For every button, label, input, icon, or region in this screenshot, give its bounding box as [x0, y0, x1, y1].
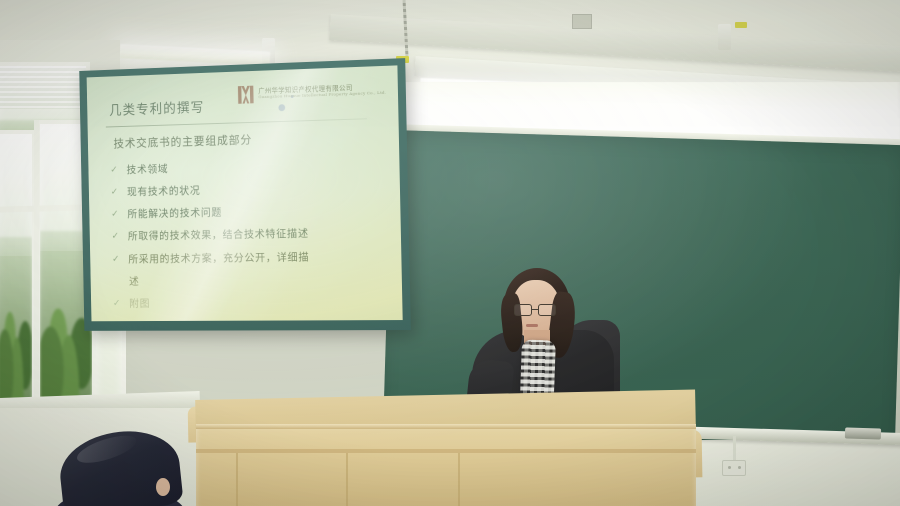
lamp-bracket-right [718, 24, 731, 50]
check-icon: ✓ [110, 165, 118, 177]
slide-bullet-continuation-text: 述 [129, 275, 140, 288]
presenter-mouth [526, 324, 538, 327]
ceiling-vent [572, 14, 592, 29]
window-glare [0, 134, 32, 256]
slide-title-divider [106, 118, 367, 127]
slide-bullet-item: ✓ 所取得的技术效果，结合技术特征描述 [112, 227, 388, 244]
check-icon: ✓ [112, 253, 120, 265]
slide-title: 几类专利的撰写 [109, 96, 205, 119]
slide-decoration-dot-large [278, 104, 285, 111]
slide-bullet-text: 技术领域 [126, 163, 168, 177]
check-icon: ✓ [111, 187, 119, 199]
logo-mark-icon [237, 85, 254, 105]
podium-panel-seam [346, 453, 348, 506]
student-foreground [60, 432, 190, 506]
lecture-podium [196, 400, 696, 506]
glasses-lens-left [514, 304, 532, 316]
check-icon: ✓ [111, 209, 119, 221]
student-ear [156, 478, 170, 496]
projection-screen-surface: 几类专利的撰写 广州华学知识产权代理有限公司 Guangzhou Huaxue … [87, 65, 403, 321]
podium-panel-seam [458, 453, 460, 506]
projection-screen-frame: 几类专利的撰写 广州华学知识产权代理有限公司 Guangzhou Huaxue … [79, 58, 411, 331]
glasses-lens-right [538, 304, 556, 316]
slide-bullet-item-last: ✓ 附图 [113, 296, 389, 311]
ceiling-tag-right [735, 22, 747, 28]
podium-rail [196, 449, 696, 453]
podium-panel-seam [236, 453, 238, 506]
classroom-photo-scene: 几类专利的撰写 广州华学知识产权代理有限公司 Guangzhou Huaxue … [0, 0, 900, 506]
slide-bullet-item: ✓ 现有技术的状况 [111, 181, 387, 200]
podium-front-panel [196, 424, 696, 506]
slide-bullet-item: ✓ 技术领域 [110, 158, 386, 178]
slide-subtitle: 技术交底书的主要组成部分 [113, 132, 252, 152]
slide-bullet-list: ✓ 技术领域 ✓ 现有技术的状况 ✓ 所能解决的技术问题 ✓ 所取得的技术效果，… [110, 158, 389, 321]
slide-bullet-text: 现有技术的状况 [127, 185, 201, 199]
slide-bullet-item: ✓ 所采用的技术方案，充分公开，详细描 [112, 250, 388, 266]
check-icon: ✓ [112, 231, 120, 243]
slide-bullet-text: 所能解决的技术问题 [127, 207, 222, 221]
slide-bullet-text: 所采用的技术方案，充分公开，详细描 [128, 251, 309, 266]
company-logo: 广州华学知识产权代理有限公司 Guangzhou Huaxue Intellec… [237, 80, 386, 105]
slide-bullet-text: 所取得的技术效果，结合技术特征描述 [128, 228, 309, 244]
slide-bullet-item: ✓ 所能解决的技术问题 [111, 204, 387, 222]
check-icon: ✓ [113, 298, 121, 309]
student-hair-sheen [74, 430, 139, 468]
wall-conduit [733, 436, 736, 462]
window-mullion [34, 120, 39, 412]
presenter-glasses [514, 304, 560, 316]
podium-edge [196, 424, 696, 429]
slide-bullet-continuation: 述 [129, 273, 388, 288]
window-blinds [0, 66, 86, 109]
wall-power-outlet [722, 460, 746, 476]
window-foliage [0, 237, 32, 406]
classroom-window-left [0, 130, 36, 410]
chalkboard-eraser [845, 427, 881, 439]
slide-bullet-text: 附图 [129, 298, 150, 311]
